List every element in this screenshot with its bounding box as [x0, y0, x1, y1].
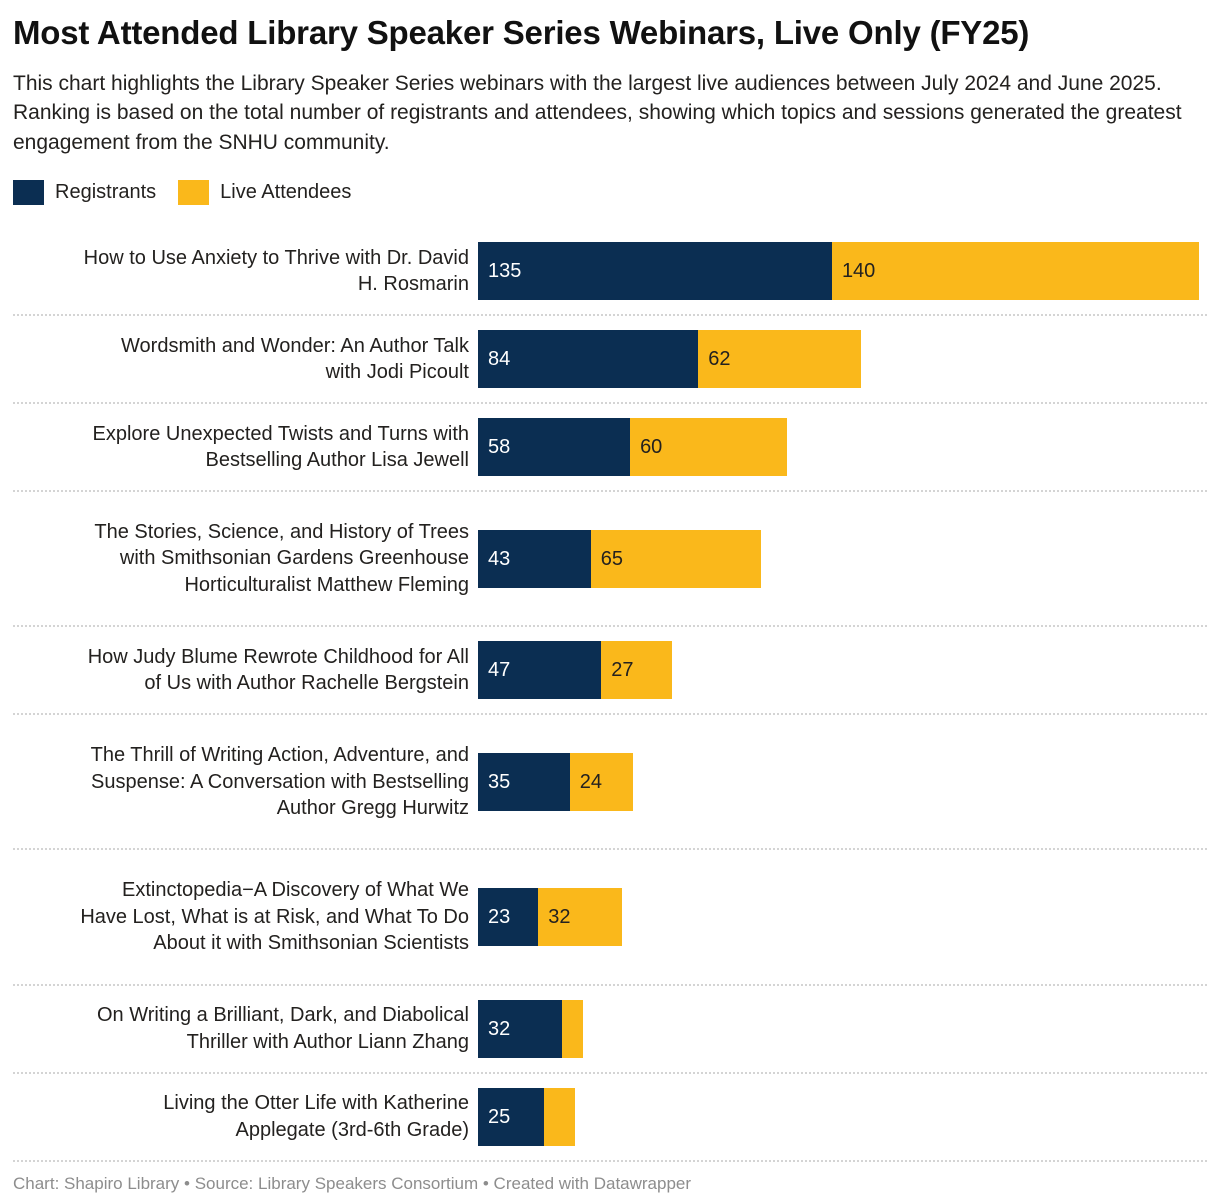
bar-value-registrants: 135 — [478, 261, 521, 281]
bar-row: Explore Unexpected Twists and Turns with… — [13, 402, 1207, 490]
bar-value-registrants: 58 — [478, 437, 510, 457]
bar-row-label-line: The Stories, Science, and History of Tre… — [13, 519, 469, 545]
bar-value-attendees: 24 — [570, 772, 602, 792]
bar-segment-registrants[interactable]: 84 — [478, 330, 698, 388]
bar-row-label-line: How Judy Blume Rewrote Childhood for All — [13, 644, 469, 670]
bar-row-bars: 32 — [478, 1000, 1207, 1058]
chart-legend: Registrants Live Attendees — [13, 158, 1207, 205]
bar-row: On Writing a Brilliant, Dark, and Diabol… — [13, 984, 1207, 1072]
stacked-bar[interactable]: 135140 — [478, 242, 1199, 300]
bar-value-registrants: 43 — [478, 549, 510, 569]
bar-row-bars: 4727 — [478, 641, 1207, 699]
bar-segment-attendees[interactable]: 62 — [698, 330, 861, 388]
bar-row-label: The Thrill of Writing Action, Adventure,… — [13, 742, 478, 821]
bar-segment-attendees[interactable]: 65 — [591, 530, 761, 588]
stacked-bar[interactable]: 2332 — [478, 888, 622, 946]
bar-row-label-line: H. Rosmarin — [13, 271, 469, 297]
bar-value-attendees: 32 — [538, 907, 570, 927]
bar-row-label-line: of Us with Author Rachelle Bergstein — [13, 670, 469, 696]
bar-row-label-line: Have Lost, What is at Risk, and What To … — [13, 904, 469, 930]
bar-row-label-line: Bestselling Author Lisa Jewell — [13, 447, 469, 473]
bar-segment-attendees[interactable] — [562, 1000, 583, 1058]
bar-row-label-line: Explore Unexpected Twists and Turns with — [13, 421, 469, 447]
bar-value-attendees: 140 — [832, 261, 875, 281]
bar-row-label: Explore Unexpected Twists and Turns with… — [13, 421, 478, 474]
stacked-bar[interactable]: 4365 — [478, 530, 761, 588]
bar-row-label-line: Living the Otter Life with Katherine — [13, 1090, 469, 1116]
bar-row-label-line: Wordsmith and Wonder: An Author Talk — [13, 333, 469, 359]
bar-row-label-line: How to Use Anxiety to Thrive with Dr. Da… — [13, 245, 469, 271]
bar-row: How Judy Blume Rewrote Childhood for All… — [13, 625, 1207, 713]
bar-row-inner: The Thrill of Writing Action, Adventure,… — [13, 742, 1207, 821]
bar-row-label-line: with Jodi Picoult — [13, 359, 469, 385]
bar-value-attendees: 27 — [601, 660, 633, 680]
bar-segment-registrants[interactable]: 43 — [478, 530, 591, 588]
bar-row-label: Wordsmith and Wonder: An Author Talkwith… — [13, 333, 478, 386]
bar-row-inner: How Judy Blume Rewrote Childhood for All… — [13, 641, 1207, 699]
bar-row: The Stories, Science, and History of Tre… — [13, 490, 1207, 625]
bar-segment-registrants[interactable]: 23 — [478, 888, 538, 946]
bar-row-label: Living the Otter Life with KatherineAppl… — [13, 1090, 478, 1143]
bar-segment-registrants[interactable]: 58 — [478, 418, 630, 476]
bar-row: Living the Otter Life with KatherineAppl… — [13, 1072, 1207, 1160]
bar-row-inner: On Writing a Brilliant, Dark, and Diabol… — [13, 1000, 1207, 1058]
bar-segment-attendees[interactable]: 32 — [538, 888, 622, 946]
bar-row-inner: Living the Otter Life with KatherineAppl… — [13, 1088, 1207, 1146]
legend-label-attendees: Live Attendees — [220, 181, 351, 204]
bar-row-bars: 25 — [478, 1088, 1207, 1146]
legend-swatch-registrants-icon — [13, 180, 44, 205]
stacked-bar[interactable]: 25 — [478, 1088, 575, 1146]
bar-segment-registrants[interactable]: 25 — [478, 1088, 544, 1146]
bar-row-bars: 2332 — [478, 888, 1207, 946]
bar-row-label-line: Extinctopedia−A Discovery of What We — [13, 877, 469, 903]
bar-row: The Thrill of Writing Action, Adventure,… — [13, 713, 1207, 848]
bar-segment-registrants[interactable]: 47 — [478, 641, 601, 699]
bar-row-label-line: About it with Smithsonian Scientists — [13, 930, 469, 956]
chart-description: This chart highlights the Library Speake… — [13, 53, 1207, 158]
bar-row-inner: Explore Unexpected Twists and Turns with… — [13, 418, 1207, 476]
bar-segment-attendees[interactable]: 27 — [601, 641, 672, 699]
bar-row: How to Use Anxiety to Thrive with Dr. Da… — [13, 228, 1207, 314]
bar-row-label-line: Suspense: A Conversation with Bestsellin… — [13, 769, 469, 795]
bar-row-label-line: Applegate (3rd-6th Grade) — [13, 1117, 469, 1143]
bar-row-label: How Judy Blume Rewrote Childhood for All… — [13, 644, 478, 697]
bar-value-registrants: 32 — [478, 1019, 510, 1039]
page-title: Most Attended Library Speaker Series Web… — [13, 0, 1193, 53]
legend-swatch-attendees-icon — [178, 180, 209, 205]
bar-rows: How to Use Anxiety to Thrive with Dr. Da… — [13, 228, 1207, 1160]
bar-segment-attendees[interactable]: 140 — [832, 242, 1199, 300]
bar-row-label-line: Author Gregg Hurwitz — [13, 795, 469, 821]
stacked-bar[interactable]: 8462 — [478, 330, 861, 388]
stacked-bar[interactable]: 3524 — [478, 753, 633, 811]
bar-row-label-line: Horticulturalist Matthew Fleming — [13, 572, 469, 598]
bar-value-registrants: 47 — [478, 660, 510, 680]
stacked-bar[interactable]: 4727 — [478, 641, 672, 699]
bar-row-label: Extinctopedia−A Discovery of What WeHave… — [13, 877, 478, 956]
bar-segment-attendees[interactable] — [544, 1088, 575, 1146]
bar-segment-attendees[interactable]: 24 — [570, 753, 633, 811]
bar-value-attendees: 65 — [591, 549, 623, 569]
bar-row-inner: The Stories, Science, and History of Tre… — [13, 519, 1207, 598]
legend-label-registrants: Registrants — [55, 181, 156, 204]
bar-row-bars: 8462 — [478, 330, 1207, 388]
bar-row-bars: 4365 — [478, 530, 1207, 588]
bar-value-attendees: 60 — [630, 437, 662, 457]
legend-item-registrants[interactable]: Registrants — [13, 180, 156, 205]
bar-row-label-line: The Thrill of Writing Action, Adventure,… — [13, 742, 469, 768]
legend-item-attendees[interactable]: Live Attendees — [178, 180, 351, 205]
stacked-bar[interactable]: 32 — [478, 1000, 583, 1058]
bar-segment-registrants[interactable]: 35 — [478, 753, 570, 811]
bar-row-inner: How to Use Anxiety to Thrive with Dr. Da… — [13, 242, 1207, 300]
chart-page: Most Attended Library Speaker Series Web… — [0, 0, 1220, 1202]
bar-row-label-line: Thriller with Author Liann Zhang — [13, 1029, 469, 1055]
bar-row-bars: 5860 — [478, 418, 1207, 476]
bar-row-label: How to Use Anxiety to Thrive with Dr. Da… — [13, 245, 478, 298]
bar-row-label: On Writing a Brilliant, Dark, and Diabol… — [13, 1002, 478, 1055]
bar-row-inner: Wordsmith and Wonder: An Author Talkwith… — [13, 330, 1207, 388]
bar-row: Extinctopedia−A Discovery of What WeHave… — [13, 848, 1207, 983]
bar-row-inner: Extinctopedia−A Discovery of What WeHave… — [13, 877, 1207, 956]
bar-segment-registrants[interactable]: 32 — [478, 1000, 562, 1058]
bar-row: Wordsmith and Wonder: An Author Talkwith… — [13, 314, 1207, 402]
stacked-bar[interactable]: 5860 — [478, 418, 787, 476]
chart-footer: Chart: Shapiro Library • Source: Library… — [13, 1162, 1207, 1194]
bar-segment-registrants[interactable]: 135 — [478, 242, 832, 300]
bar-value-registrants: 35 — [478, 772, 510, 792]
bar-segment-attendees[interactable]: 60 — [630, 418, 787, 476]
bar-row-bars: 3524 — [478, 753, 1207, 811]
bar-value-attendees: 62 — [698, 349, 730, 369]
bar-row-label-line: with Smithsonian Gardens Greenhouse — [13, 545, 469, 571]
bar-value-registrants: 84 — [478, 349, 510, 369]
bar-row-label: The Stories, Science, and History of Tre… — [13, 519, 478, 598]
bar-row-label-line: On Writing a Brilliant, Dark, and Diabol… — [13, 1002, 469, 1028]
bar-value-registrants: 23 — [478, 907, 510, 927]
bar-value-registrants: 25 — [478, 1107, 510, 1127]
bar-row-bars: 135140 — [478, 242, 1207, 300]
